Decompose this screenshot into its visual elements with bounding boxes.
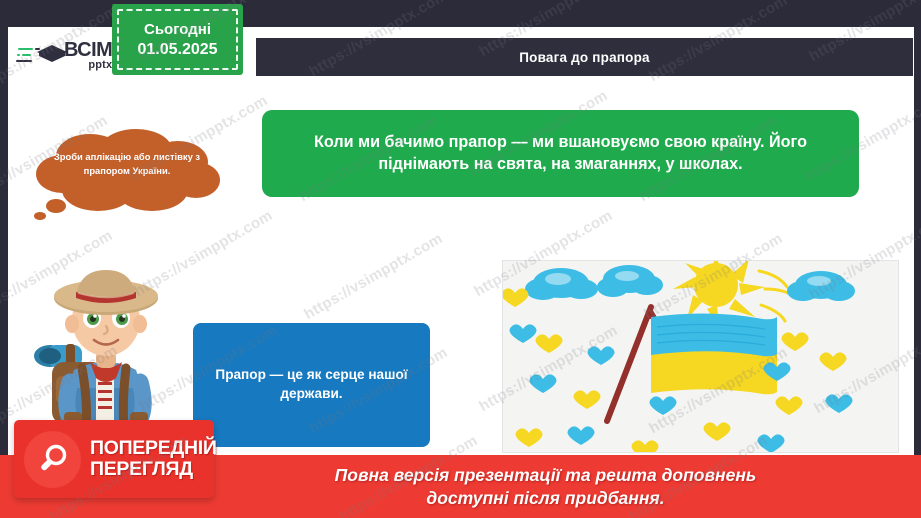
graduation-cap-icon	[16, 43, 42, 69]
task-cloud-text: Зроби аплікацію або листівку з прапором …	[48, 150, 206, 177]
brand-logo-text: ВСІМ pptx	[64, 41, 112, 70]
date-badge-label: Сьогодні	[144, 21, 211, 38]
green-message-text: Коли ми бачимо прапор — ми вшановуємо св…	[276, 132, 845, 175]
date-badge-value: 01.05.2025	[137, 41, 217, 59]
brand-suffix: pptx	[64, 60, 112, 70]
preview-button-label: ПОПЕРЕДНІЙ ПЕРЕГЛЯД	[90, 438, 217, 479]
page-title: Повага до прапора	[519, 50, 650, 65]
slide-screenshot: Повага до прапора ВСІМ pptx Сьогодні 01.…	[0, 0, 921, 518]
green-message-box: Коли ми бачимо прапор — ми вшановуємо св…	[262, 110, 859, 197]
date-badge: Сьогодні 01.05.2025	[112, 4, 243, 75]
blue-message-text: Прапор — це як серце нашої держави.	[205, 366, 418, 404]
preview-label-line1: ПОПЕРЕДНІЙ	[90, 438, 217, 459]
purchase-notice-text: Повна версія презентації та решта доповн…	[165, 464, 757, 510]
brand-name: ВСІМ	[64, 41, 112, 60]
flag-drawing-illustration	[503, 261, 899, 453]
magnifier-icon	[24, 431, 81, 488]
blue-message-box: Прапор — це як серце нашої держави.	[193, 323, 430, 447]
preview-label-line2: ПЕРЕГЛЯД	[90, 459, 217, 480]
purchase-notice-line1: Повна версія презентації та решта доповн…	[335, 465, 757, 485]
preview-button[interactable]: ПОПЕРЕДНІЙ ПЕРЕГЛЯД	[14, 420, 214, 498]
brand-logo[interactable]: ВСІМ pptx	[8, 27, 116, 84]
flag-drawing-photo	[502, 260, 899, 453]
task-cloud-bubble: Зроби аплікацію або листівку з прапором …	[28, 128, 224, 226]
purchase-notice-line2: доступні після придбання.	[426, 488, 664, 508]
slide-header-bar: Повага до прапора	[256, 38, 913, 76]
